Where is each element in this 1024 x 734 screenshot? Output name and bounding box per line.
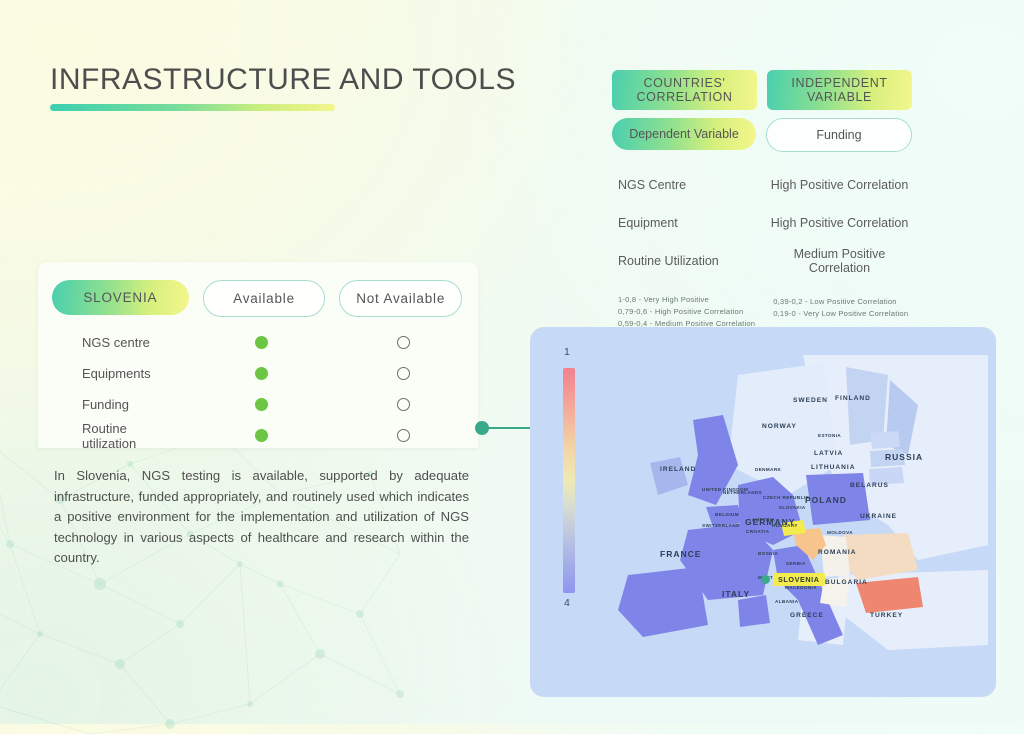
colorbar: [563, 368, 575, 593]
list-item: Routine utilization: [38, 420, 478, 451]
map-label-ukraine: UKRAINE: [860, 513, 897, 520]
map-label-croatia: CROATIA: [746, 529, 769, 534]
correlation-subheader-row: Dependent Variable Funding: [612, 118, 912, 152]
legend-item: 1-0,8 - Very High Positive: [618, 294, 755, 306]
available-cell: [197, 429, 325, 442]
header-countries-correlation: COUNTRIES' CORRELATION: [612, 70, 757, 110]
map-label-latvia: LATVIA: [814, 450, 843, 457]
correlation-legend: 1-0,8 - Very High Positive 0,79-0,6 - Hi…: [612, 294, 912, 330]
filled-dot-icon: [255, 398, 268, 411]
list-item: NGS centre: [38, 327, 478, 358]
filled-dot-icon: [255, 367, 268, 380]
legend-column-left: 1-0,8 - Very High Positive 0,79-0,6 - Hi…: [618, 294, 755, 330]
correlation-header-row: COUNTRIES' CORRELATION INDEPENDENT VARIA…: [612, 70, 912, 110]
map-label-slovakia: SLOVAKIA: [779, 505, 806, 510]
map-label-albania: ALBANIA: [775, 599, 798, 604]
map-label-turkey: TURKEY: [870, 612, 903, 619]
empty-circle-icon: [397, 367, 410, 380]
map-label-norway: NORWAY: [762, 423, 797, 430]
not-available-cell: [339, 367, 467, 380]
map-label-serbia: SERBIA: [786, 561, 806, 566]
map-label-russia: RUSSIA: [885, 452, 923, 462]
country-availability-card: SLOVENIA Available Not Available NGS cen…: [38, 262, 478, 448]
filled-dot-icon: [255, 429, 268, 442]
not-available-cell: [339, 429, 467, 442]
card-header-row: SLOVENIA Available Not Available: [38, 262, 478, 317]
available-cell: [197, 367, 325, 380]
available-cell: [197, 336, 325, 349]
europe-map: [588, 345, 988, 685]
not-available-cell: [339, 336, 467, 349]
table-row: Routine Utilization Medium Positive Corr…: [612, 242, 912, 280]
map-label-bosnia: BOSNIA: [758, 551, 778, 556]
column-header-available: Available: [203, 280, 326, 317]
legend-item: 0,79-0,6 - High Positive Correlation: [618, 306, 755, 318]
map-label-moldova: MOLDOVA: [827, 530, 853, 535]
map-label-greece: GREECE: [790, 612, 824, 619]
europe-map-panel: 1 4 IRELAND UNITED KINGDO: [530, 327, 996, 697]
page-title: INFRASTRUCTURE AND TOOLS: [50, 63, 516, 97]
summary-paragraph: In Slovenia, NGS testing is available, s…: [54, 466, 469, 569]
colorbar-min-label: 4: [564, 597, 570, 609]
available-cell: [197, 398, 325, 411]
availability-rows: NGS centre Equipments Funding Routine ut…: [38, 317, 478, 451]
legend-item: 0,39-0,2 - Low Positive Correlation: [773, 296, 908, 308]
correlation-value: Medium Positive Correlation: [767, 247, 912, 275]
map-label-switzerland: SWITZERLAND: [702, 523, 740, 528]
row-label: Equipments: [38, 366, 183, 381]
map-label-belgium: BELGIUM: [715, 512, 739, 517]
correlation-value: High Positive Correlation: [767, 178, 912, 192]
table-row: NGS Centre High Positive Correlation: [612, 166, 912, 204]
filled-dot-icon: [255, 336, 268, 349]
header-independent-variable: INDEPENDENT VARIABLE: [767, 70, 912, 110]
map-label-poland: POLAND: [805, 495, 847, 505]
correlation-rows: NGS Centre High Positive Correlation Equ…: [612, 166, 912, 280]
map-label-lithuania: LITHUANIA: [811, 464, 856, 471]
correlation-table: COUNTRIES' CORRELATION INDEPENDENT VARIA…: [612, 70, 912, 330]
map-label-austria: AUSTRIA: [752, 517, 775, 522]
list-item: Funding: [38, 389, 478, 420]
empty-circle-icon: [397, 398, 410, 411]
slovenia-marker-dot: [761, 575, 770, 584]
list-item: Equipments: [38, 358, 478, 389]
map-label-czech-republic: CZECH REPUBLIC: [763, 495, 809, 500]
subheader-dependent-variable: Dependent Variable: [612, 118, 756, 150]
legend-column-right: 0,39-0,2 - Low Positive Correlation 0,19…: [773, 294, 908, 330]
map-label-netherlands: NETHERLANDS: [723, 490, 762, 495]
map-label-estonia: ESTONIA: [818, 433, 841, 438]
network-decoration: [0, 404, 410, 734]
map-label-finland: FINLAND: [835, 395, 871, 402]
map-label-sweden: SWEDEN: [793, 397, 828, 404]
colorbar-max-label: 1: [564, 346, 570, 358]
row-label: NGS centre: [38, 335, 183, 350]
row-label: Routine utilization: [38, 421, 183, 451]
map-label-italy: ITALY: [722, 589, 750, 599]
subheader-funding: Funding: [766, 118, 912, 152]
legend-item: 0,19-0 - Very Low Positive Correlation: [773, 308, 908, 320]
row-label: Funding: [38, 397, 183, 412]
map-label-slovenia-highlight: SLOVENIA: [773, 573, 825, 586]
column-header-not-available: Not Available: [339, 280, 462, 317]
map-label-denmark: DENMARK: [755, 467, 781, 472]
correlation-value: High Positive Correlation: [767, 216, 912, 230]
map-label-romania: ROMANIA: [818, 549, 857, 556]
correlation-variable: Equipment: [612, 216, 757, 230]
title-underline-bar: [50, 104, 335, 111]
empty-circle-icon: [397, 336, 410, 349]
empty-circle-icon: [397, 429, 410, 442]
country-name-badge: SLOVENIA: [52, 280, 189, 315]
correlation-variable: NGS Centre: [612, 178, 757, 192]
not-available-cell: [339, 398, 467, 411]
map-label-belarus: BELARUS: [850, 482, 889, 489]
table-row: Equipment High Positive Correlation: [612, 204, 912, 242]
correlation-variable: Routine Utilization: [612, 254, 757, 268]
map-label-hungary: HUNGARY: [772, 523, 798, 528]
map-label-france: FRANCE: [660, 549, 701, 559]
map-label-bulgaria: BULGARIA: [825, 579, 868, 586]
map-label-ireland: IRELAND: [660, 466, 696, 473]
